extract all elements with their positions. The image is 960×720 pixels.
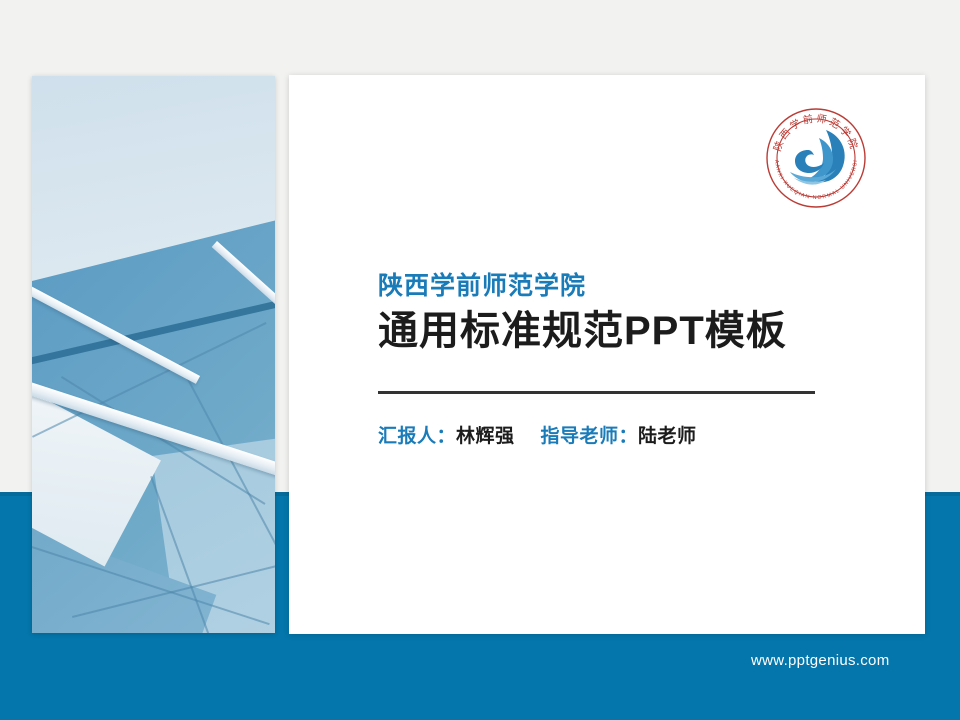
advisor-label: 指导老师： [541, 426, 639, 447]
svg-text:陕西学前师范学院: 陕西学前师范学院 [771, 112, 862, 153]
cover-photo [32, 76, 275, 633]
title-block: 陕西学前师范学院 通用标准规范PPT模板 [378, 272, 898, 355]
presenter-name: 林辉强 [456, 426, 515, 447]
footer-url[interactable]: www.pptgenius.com [751, 652, 890, 669]
page-title: 通用标准规范PPT模板 [378, 307, 898, 355]
institution-name: 陕西学前师范学院 [378, 272, 898, 301]
byline: 汇报人：林辉强指导老师：陆老师 [378, 421, 697, 448]
university-logo: 陕西学前师范学院 SHAANXI XUEQIAN NORMAL UNIVERSI… [764, 106, 868, 210]
title-divider [378, 391, 815, 394]
swan-emblem [790, 130, 845, 185]
presenter-label: 汇报人： [378, 426, 456, 447]
presentation-slide: 陕西学前师范学院 SHAANXI XUEQIAN NORMAL UNIVERSI… [0, 0, 960, 720]
advisor-name: 陆老师 [638, 426, 697, 447]
